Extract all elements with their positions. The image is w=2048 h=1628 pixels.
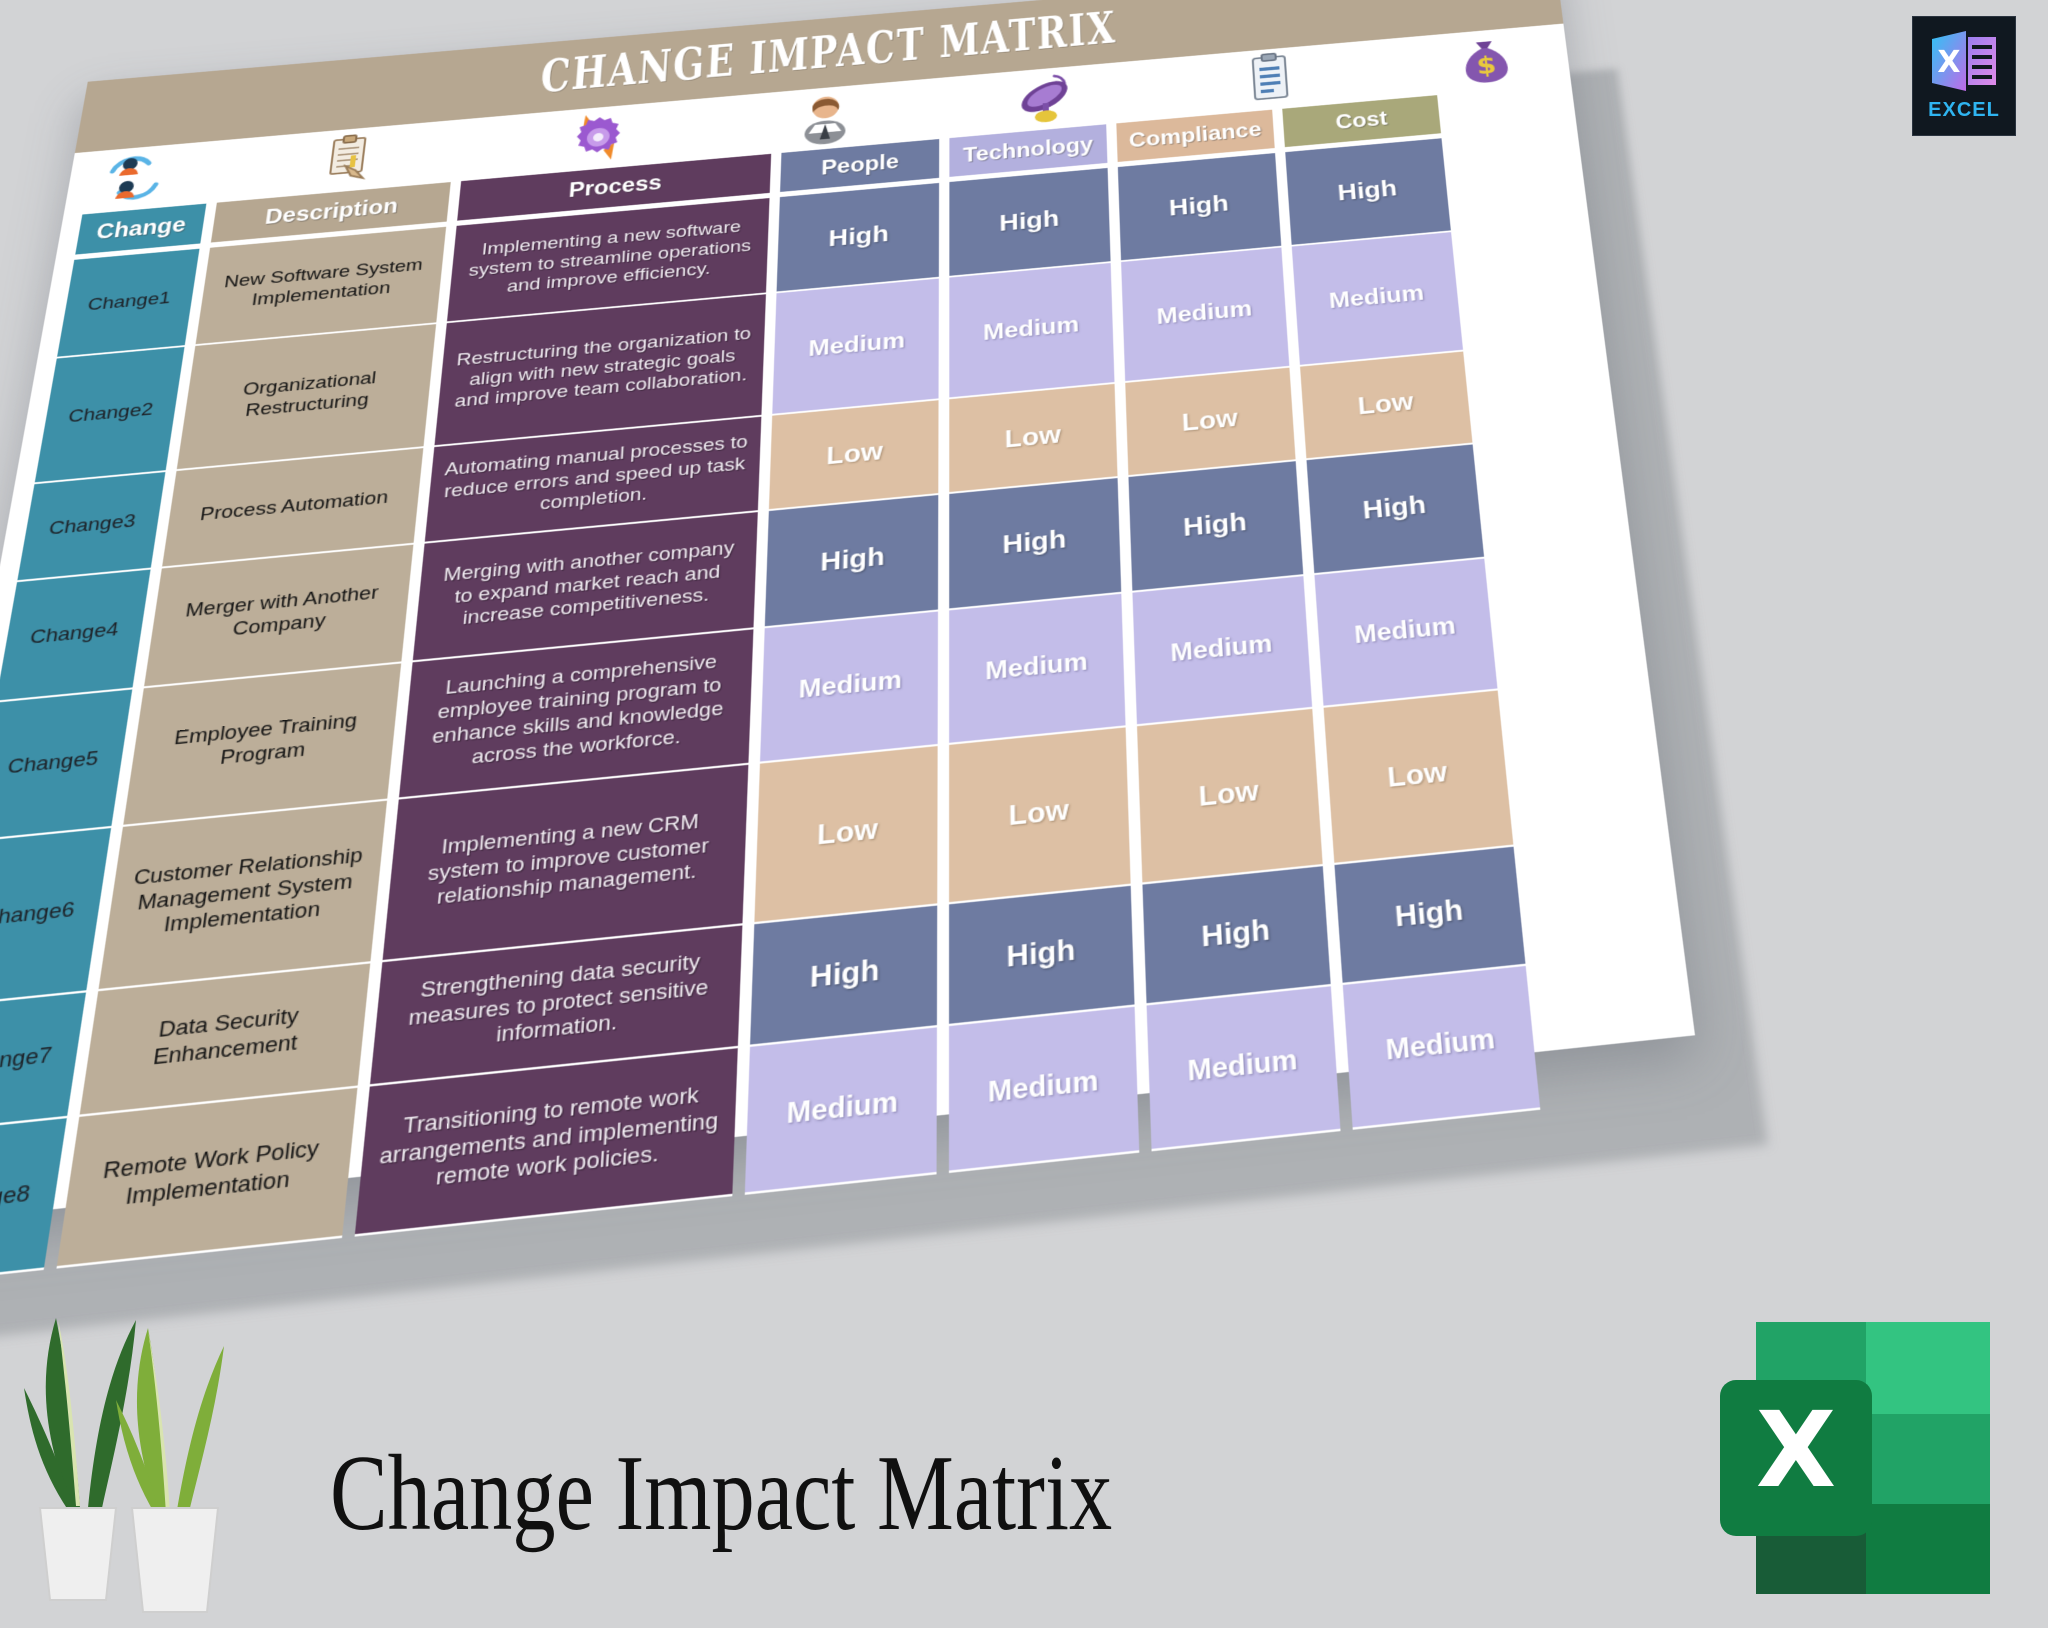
cell-technology-row1[interactable]: High xyxy=(949,168,1110,278)
change-cycle-icon xyxy=(96,148,172,208)
excel-badge-label: EXCEL xyxy=(1928,99,2000,122)
cell-people-row6[interactable]: Low xyxy=(754,746,937,924)
cell-compliance-row2[interactable]: Medium xyxy=(1121,248,1289,383)
excel-x-mark-icon: X xyxy=(1926,25,2002,97)
cell-technology-row6[interactable]: Low xyxy=(949,727,1131,904)
cell-cost-row5[interactable]: Medium xyxy=(1314,559,1497,708)
svg-text:$: $ xyxy=(1475,52,1497,80)
cell-description-row2[interactable]: Organizational Restructuring xyxy=(176,324,436,471)
cell-technology-row2[interactable]: Medium xyxy=(949,263,1114,399)
cell-change-row7[interactable]: Change7 xyxy=(0,993,86,1134)
satellite-dish-technology-icon xyxy=(1014,69,1080,127)
plant-decoration-icon xyxy=(10,1258,300,1618)
cell-compliance-row6[interactable]: Low xyxy=(1137,709,1323,885)
cell-cost-row7[interactable]: High xyxy=(1334,847,1525,985)
svg-text:X: X xyxy=(1937,45,1960,80)
cell-compliance-row4[interactable]: High xyxy=(1128,461,1303,592)
cell-change-row3[interactable]: Change3 xyxy=(17,472,165,582)
cell-change-row5[interactable]: Change5 xyxy=(0,689,132,842)
compliance-document-icon xyxy=(1236,50,1304,108)
cell-change-row4[interactable]: Change4 xyxy=(0,570,151,703)
column-people: HighMediumLowHighMediumLowHighMedium xyxy=(745,183,939,1195)
cell-compliance-row1[interactable]: High xyxy=(1118,153,1282,262)
cell-people-row8[interactable]: Medium xyxy=(745,1027,937,1194)
cell-people-row7[interactable]: High xyxy=(750,906,937,1047)
cell-technology-row8[interactable]: Medium xyxy=(949,1007,1139,1173)
cell-compliance-row7[interactable]: High xyxy=(1142,866,1330,1005)
cell-cost-row1[interactable]: High xyxy=(1285,138,1451,246)
cell-cost-row3[interactable]: Low xyxy=(1300,352,1473,461)
gear-process-icon xyxy=(563,108,633,167)
clipboard-checklist-icon xyxy=(312,129,385,189)
cell-cost-row8[interactable]: Medium xyxy=(1343,966,1541,1130)
matrix-grid: Change Description Process People Techno… xyxy=(0,85,1681,1286)
cell-cost-row6[interactable]: Low xyxy=(1324,691,1514,866)
cell-technology-row4[interactable]: High xyxy=(949,478,1121,610)
person-people-icon xyxy=(792,88,859,147)
column-technology: HighMediumLowHighMediumLowHighMedium xyxy=(949,168,1139,1173)
money-bag-cost-icon: $ xyxy=(1451,31,1520,88)
cell-description-row6[interactable]: Customer Relationship Management System … xyxy=(98,801,387,992)
cell-cost-row2[interactable]: Medium xyxy=(1292,232,1463,367)
page-title: Change Impact Matrix xyxy=(330,1432,1112,1556)
svg-text:X: X xyxy=(1756,1389,1836,1511)
cell-change-row2[interactable]: Change2 xyxy=(34,347,184,484)
excel-logo-icon: X xyxy=(1714,1308,2004,1608)
cell-technology-row7[interactable]: High xyxy=(949,886,1135,1026)
cell-cost-row4[interactable]: High xyxy=(1307,444,1485,575)
cell-compliance-row5[interactable]: Medium xyxy=(1132,576,1312,726)
cell-technology-row3[interactable]: Low xyxy=(949,384,1117,494)
excel-badge: X EXCEL xyxy=(1912,16,2016,136)
cell-change-row6[interactable]: Change6 xyxy=(0,828,111,1007)
spreadsheet-sheet: CHANGE IMPACT MATRIX xyxy=(0,0,1695,1228)
table-body: Change1Change2Change3Change4Change5Chang… xyxy=(0,128,1681,1286)
cell-people-row5[interactable]: Medium xyxy=(760,612,938,764)
cell-people-row2[interactable]: Medium xyxy=(772,279,939,416)
cell-compliance-row3[interactable]: Low xyxy=(1125,368,1295,477)
cell-people-row1[interactable]: High xyxy=(777,183,940,293)
cell-change-row1[interactable]: Change1 xyxy=(57,249,200,359)
cell-people-row3[interactable]: Low xyxy=(769,400,939,511)
cell-technology-row5[interactable]: Medium xyxy=(949,594,1125,745)
cell-compliance-row8[interactable]: Medium xyxy=(1147,986,1341,1151)
cell-people-row4[interactable]: High xyxy=(765,495,939,628)
